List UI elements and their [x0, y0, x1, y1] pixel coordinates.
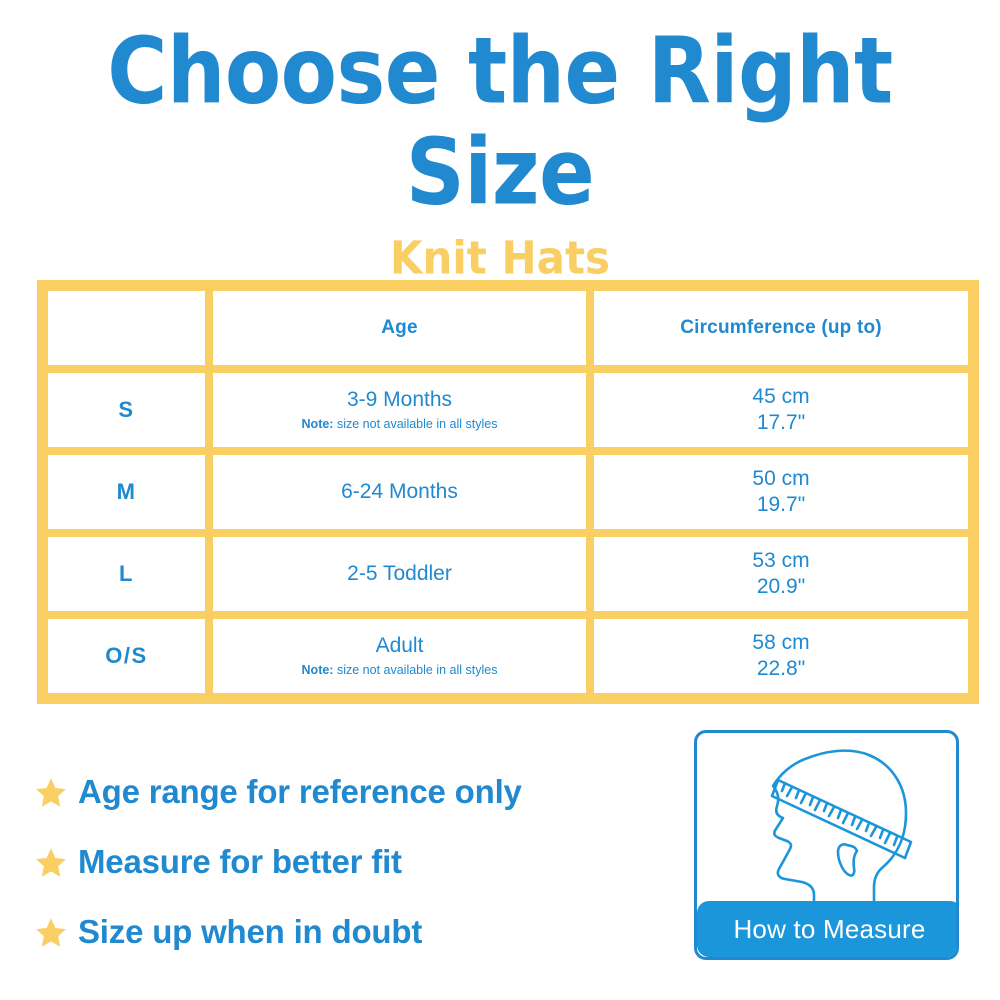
- circumference-cm: 58 cm: [594, 630, 968, 656]
- cell-circumference: 53 cm 20.9": [590, 533, 972, 615]
- table-row: M 6-24 Months 50 cm 19.7": [44, 451, 972, 533]
- cell-size: L: [44, 533, 209, 615]
- size-chart-table-container: SIZE Age Circumference (up to) S 3-9 Mon…: [37, 280, 965, 704]
- cell-size: O/S: [44, 615, 209, 697]
- age-note: Note: size not available in all styles: [213, 661, 586, 679]
- circumference-cm: 45 cm: [594, 384, 968, 410]
- page-title: Choose the Right Size: [0, 22, 1000, 224]
- circumference-cm: 50 cm: [594, 466, 968, 492]
- size-chart-table: SIZE Age Circumference (up to) S 3-9 Mon…: [37, 280, 979, 704]
- table-row: S 3-9 Months Note: size not available in…: [44, 369, 972, 451]
- list-item-label: Size up when in doubt: [78, 913, 422, 951]
- cell-circumference: 50 cm 19.7": [590, 451, 972, 533]
- list-item: Measure for better fit: [34, 827, 674, 897]
- list-item: Age range for reference only: [34, 757, 674, 827]
- list-item-label: Age range for reference only: [78, 773, 522, 811]
- star-icon: [34, 916, 68, 950]
- age-value: Adult: [213, 633, 586, 659]
- head-profile-with-measuring-tape-icon: [697, 733, 959, 923]
- cell-age: 6-24 Months: [209, 451, 590, 533]
- table-row: L 2-5 Toddler 53 cm 20.9": [44, 533, 972, 615]
- tips-list: Age range for reference only Measure for…: [34, 757, 674, 967]
- circumference-inches: 17.7": [594, 410, 968, 436]
- age-note-label: Note:: [302, 663, 334, 677]
- age-note-label: Note:: [302, 417, 334, 431]
- table-row: O/S Adult Note: size not available in al…: [44, 615, 972, 697]
- table-header-row: SIZE Age Circumference (up to): [44, 287, 972, 369]
- column-header-age: Age: [209, 287, 590, 369]
- page-subtitle: Knit Hats: [0, 202, 1000, 284]
- column-header-circumference: Circumference (up to): [590, 287, 972, 369]
- age-note: Note: size not available in all styles: [213, 415, 586, 433]
- age-value: 2-5 Toddler: [213, 561, 586, 587]
- cell-age: Adult Note: size not available in all st…: [209, 615, 590, 697]
- cell-size: S: [44, 369, 209, 451]
- cell-circumference: 58 cm 22.8": [590, 615, 972, 697]
- how-to-measure-card[interactable]: How to Measure: [694, 730, 959, 960]
- age-note-text: size not available in all styles: [333, 417, 497, 431]
- circumference-inches: 20.9": [594, 574, 968, 600]
- column-header-size: SIZE: [44, 287, 209, 369]
- cell-circumference: 45 cm 17.7": [590, 369, 972, 451]
- circumference-inches: 22.8": [594, 656, 968, 682]
- age-value: 3-9 Months: [213, 387, 586, 413]
- cell-age: 2-5 Toddler: [209, 533, 590, 615]
- list-item: Size up when in doubt: [34, 897, 674, 967]
- cell-size: M: [44, 451, 209, 533]
- list-item-label: Measure for better fit: [78, 843, 402, 881]
- how-to-measure-label[interactable]: How to Measure: [697, 901, 959, 957]
- age-value: 6-24 Months: [213, 479, 586, 505]
- age-note-text: size not available in all styles: [333, 663, 497, 677]
- circumference-cm: 53 cm: [594, 548, 968, 574]
- circumference-inches: 19.7": [594, 492, 968, 518]
- page-header: Choose the Right Size Knit Hats: [0, 22, 1000, 278]
- star-icon: [34, 776, 68, 810]
- cell-age: 3-9 Months Note: size not available in a…: [209, 369, 590, 451]
- star-icon: [34, 846, 68, 880]
